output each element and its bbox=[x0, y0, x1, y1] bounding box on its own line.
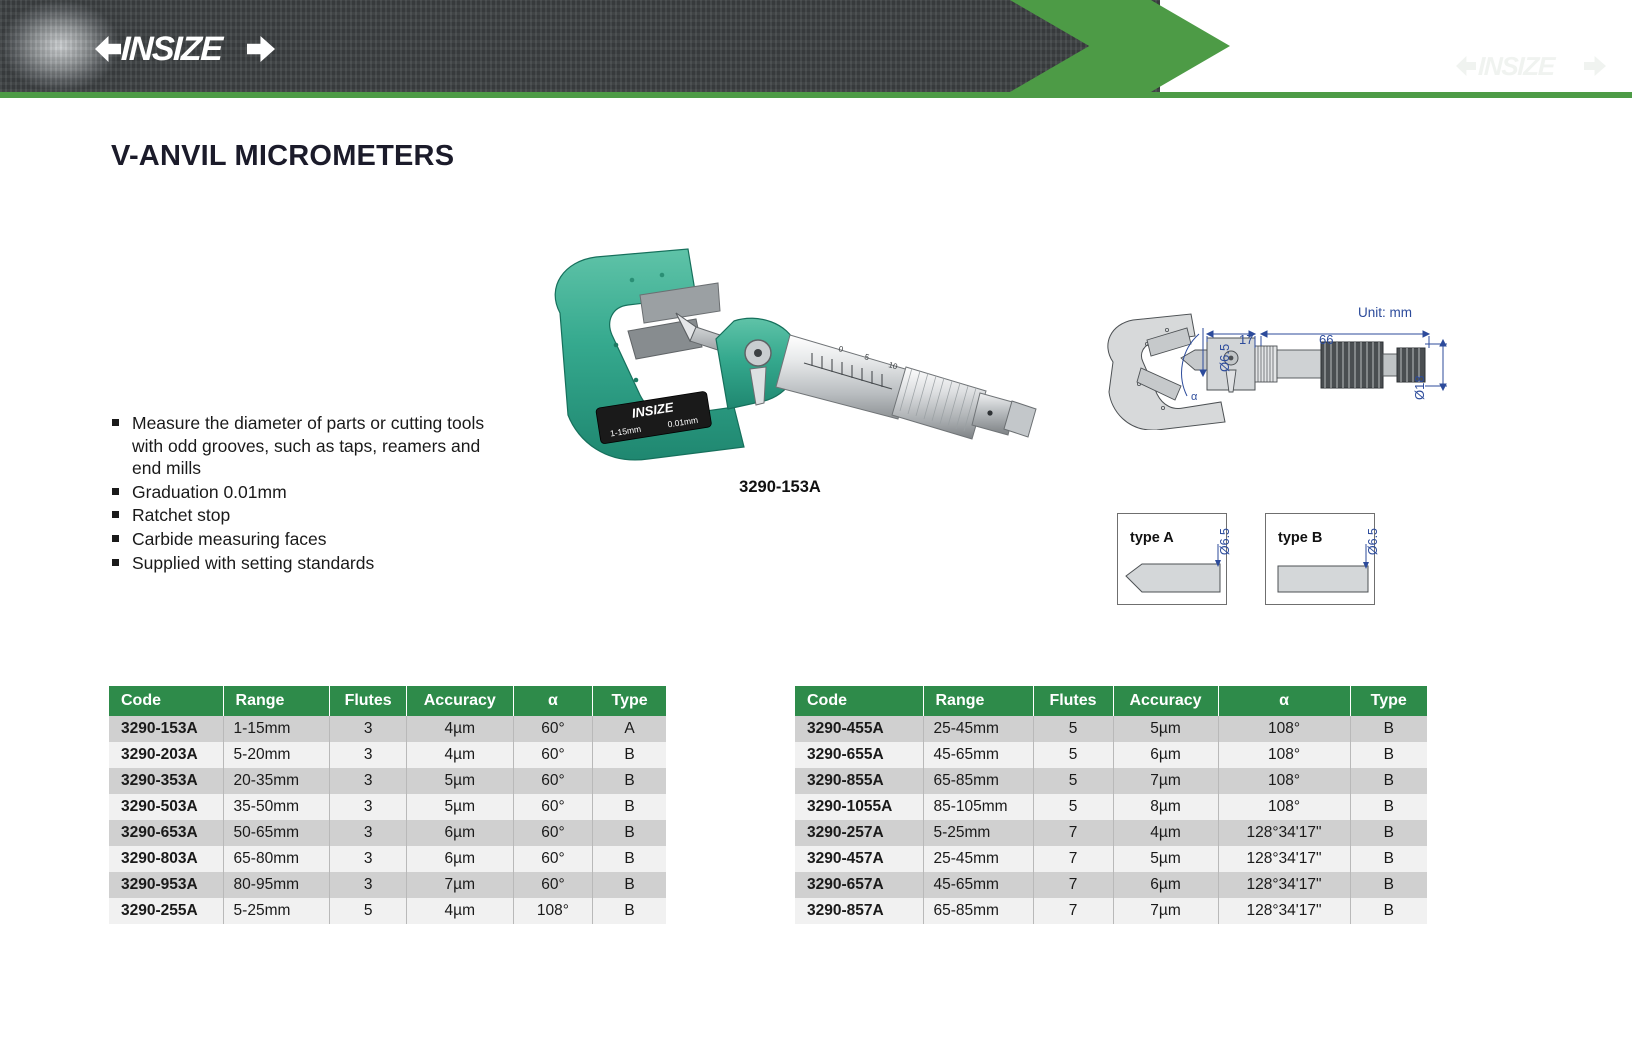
column-header-range: Range bbox=[223, 686, 330, 716]
cell-accuracy: 4µm bbox=[406, 716, 513, 742]
cell-accuracy: 4µm bbox=[406, 898, 513, 924]
dimension-diameter-thimble: Ø18 bbox=[1412, 375, 1427, 400]
list-item: Supplied with setting standards bbox=[110, 552, 510, 575]
cell-alpha: 128°34'17" bbox=[1218, 846, 1350, 872]
column-header-code: Code bbox=[109, 686, 223, 716]
feature-text: Measure the diameter of parts or cutting… bbox=[132, 413, 484, 478]
cell-flutes: 3 bbox=[330, 846, 406, 872]
cell-alpha: 60° bbox=[513, 872, 592, 898]
table-row: 3290-153A1-15mm34µm60°A bbox=[109, 716, 666, 742]
cell-range: 45-65mm bbox=[923, 872, 1033, 898]
cell-code: 3290-203A bbox=[109, 742, 223, 768]
cell-alpha: 108° bbox=[1218, 742, 1350, 768]
column-header-alpha: α bbox=[1218, 686, 1350, 716]
cell-type: B bbox=[1350, 820, 1427, 846]
table-row: 3290-455A25-45mm55µm108°B bbox=[795, 716, 1427, 742]
column-header-flutes: Flutes bbox=[330, 686, 406, 716]
cell-code: 3290-803A bbox=[109, 846, 223, 872]
dimension-drawing: α bbox=[1095, 300, 1465, 430]
dimension-17: 17 bbox=[1239, 332, 1253, 347]
table-row: 3290-203A5-20mm34µm60°B bbox=[109, 742, 666, 768]
cell-code: 3290-255A bbox=[109, 898, 223, 924]
cell-flutes: 3 bbox=[330, 716, 406, 742]
cell-flutes: 3 bbox=[330, 794, 406, 820]
cell-code: 3290-257A bbox=[795, 820, 923, 846]
cell-flutes: 3 bbox=[330, 742, 406, 768]
dimension-diameter-anvil: Ø6.5 bbox=[1217, 344, 1232, 372]
cell-accuracy: 5µm bbox=[406, 794, 513, 820]
table-row: 3290-503A35-50mm35µm60°B bbox=[109, 794, 666, 820]
cell-alpha: 60° bbox=[513, 768, 592, 794]
cell-type: B bbox=[593, 898, 666, 924]
page-header: INSIZE INSIZE bbox=[0, 0, 1632, 98]
column-header-type: Type bbox=[593, 686, 666, 716]
cell-alpha: 128°34'17" bbox=[1218, 898, 1350, 924]
table-row: 3290-855A65-85mm57µm108°B bbox=[795, 768, 1427, 794]
table-body-right: 3290-455A25-45mm55µm108°B3290-655A45-65m… bbox=[795, 716, 1427, 924]
cell-range: 85-105mm bbox=[923, 794, 1033, 820]
cell-accuracy: 6µm bbox=[406, 820, 513, 846]
cell-flutes: 3 bbox=[330, 768, 406, 794]
cell-alpha: 108° bbox=[1218, 768, 1350, 794]
cell-accuracy: 6µm bbox=[1113, 872, 1218, 898]
cell-flutes: 7 bbox=[1033, 872, 1113, 898]
square-bullet-icon bbox=[112, 535, 119, 542]
cell-code: 3290-657A bbox=[795, 872, 923, 898]
cell-flutes: 5 bbox=[1033, 768, 1113, 794]
cell-range: 5-25mm bbox=[923, 820, 1033, 846]
table-row: 3290-655A45-65mm56µm108°B bbox=[795, 742, 1427, 768]
cell-flutes: 5 bbox=[330, 898, 406, 924]
cell-flutes: 5 bbox=[1033, 716, 1113, 742]
cell-flutes: 3 bbox=[330, 820, 406, 846]
cell-type: B bbox=[1350, 742, 1427, 768]
logo-left-arrow-icon bbox=[95, 36, 121, 62]
watermark-text: INSIZE bbox=[1477, 51, 1554, 82]
cell-alpha: 128°34'17" bbox=[1218, 872, 1350, 898]
cell-accuracy: 6µm bbox=[406, 846, 513, 872]
technical-drawing: α bbox=[1095, 300, 1465, 430]
cell-range: 5-25mm bbox=[223, 898, 330, 924]
cell-alpha: 60° bbox=[513, 742, 592, 768]
cell-type: B bbox=[593, 872, 666, 898]
type-b-box: type B Ø6.5 bbox=[1265, 513, 1375, 605]
cell-type: B bbox=[1350, 768, 1427, 794]
square-bullet-icon bbox=[112, 488, 119, 495]
cell-alpha: 60° bbox=[513, 716, 592, 742]
logo-text: INSIZE bbox=[120, 30, 222, 69]
cell-accuracy: 4µm bbox=[1113, 820, 1218, 846]
table-row: 3290-457A25-45mm75µm128°34'17"B bbox=[795, 846, 1427, 872]
cell-range: 20-35mm bbox=[223, 768, 330, 794]
cell-accuracy: 7µm bbox=[1113, 768, 1218, 794]
cell-code: 3290-857A bbox=[795, 898, 923, 924]
watermark-right-arrow-icon bbox=[1584, 56, 1606, 76]
cell-code: 3290-353A bbox=[109, 768, 223, 794]
cell-range: 1-15mm bbox=[223, 716, 330, 742]
cell-alpha: 108° bbox=[1218, 794, 1350, 820]
table-row: 3290-857A65-85mm77µm128°34'17"B bbox=[795, 898, 1427, 924]
cell-alpha: 108° bbox=[513, 898, 592, 924]
cell-alpha: 60° bbox=[513, 820, 592, 846]
list-item: Ratchet stop bbox=[110, 504, 510, 527]
cell-alpha: 108° bbox=[1218, 716, 1350, 742]
cell-accuracy: 6µm bbox=[1113, 742, 1218, 768]
page-title: V-ANVIL MICROMETERS bbox=[111, 140, 454, 173]
spec-table-right: Code Range Flutes Accuracy α Type 3290-4… bbox=[795, 686, 1427, 924]
product-caption: 3290-153A bbox=[520, 478, 1040, 497]
insize-watermark-logo: INSIZE bbox=[1456, 50, 1616, 84]
square-bullet-icon bbox=[112, 419, 119, 426]
list-item: Graduation 0.01mm bbox=[110, 481, 510, 504]
cell-range: 25-45mm bbox=[923, 716, 1033, 742]
cell-range: 45-65mm bbox=[923, 742, 1033, 768]
header-green-rule bbox=[0, 92, 1632, 98]
cell-flutes: 5 bbox=[1033, 742, 1113, 768]
cell-type: B bbox=[593, 794, 666, 820]
cell-alpha: 128°34'17" bbox=[1218, 820, 1350, 846]
cell-flutes: 3 bbox=[330, 872, 406, 898]
cell-range: 80-95mm bbox=[223, 872, 330, 898]
cell-code: 3290-457A bbox=[795, 846, 923, 872]
cell-flutes: 7 bbox=[1033, 898, 1113, 924]
cell-code: 3290-455A bbox=[795, 716, 923, 742]
cell-type: B bbox=[593, 768, 666, 794]
dimension-66: 66 bbox=[1319, 332, 1333, 347]
column-header-range: Range bbox=[923, 686, 1033, 716]
type-a-box: type A Ø6.5 bbox=[1117, 513, 1227, 605]
cell-type: B bbox=[1350, 846, 1427, 872]
insize-logo: INSIZE bbox=[95, 28, 275, 72]
column-header-accuracy: Accuracy bbox=[1113, 686, 1218, 716]
table-row: 3290-1055A85-105mm58µm108°B bbox=[795, 794, 1427, 820]
type-a-tip-drawing bbox=[1118, 514, 1228, 606]
cell-type: B bbox=[593, 846, 666, 872]
cell-code: 3290-855A bbox=[795, 768, 923, 794]
square-bullet-icon bbox=[112, 511, 119, 518]
cell-flutes: 5 bbox=[1033, 794, 1113, 820]
cell-range: 65-85mm bbox=[923, 898, 1033, 924]
cell-flutes: 7 bbox=[1033, 846, 1113, 872]
cell-type: B bbox=[1350, 872, 1427, 898]
cell-accuracy: 8µm bbox=[1113, 794, 1218, 820]
cell-range: 65-85mm bbox=[923, 768, 1033, 794]
cell-accuracy: 5µm bbox=[1113, 716, 1218, 742]
cell-accuracy: 5µm bbox=[406, 768, 513, 794]
feature-list: Measure the diameter of parts or cutting… bbox=[110, 412, 510, 575]
micrometer-illustration: 0 5 10 bbox=[520, 235, 1040, 475]
cell-code: 3290-653A bbox=[109, 820, 223, 846]
table-row: 3290-255A5-25mm54µm108°B bbox=[109, 898, 666, 924]
datasheet-page: INSIZE INSIZE V-ANVIL MICROMETERS Measur… bbox=[0, 0, 1632, 1043]
cell-range: 50-65mm bbox=[223, 820, 330, 846]
column-header-flutes: Flutes bbox=[1033, 686, 1113, 716]
product-photo: 0 5 10 bbox=[520, 235, 1040, 475]
column-header-accuracy: Accuracy bbox=[406, 686, 513, 716]
list-item: Carbide measuring faces bbox=[110, 528, 510, 551]
feature-text: Graduation 0.01mm bbox=[132, 482, 287, 502]
column-header-code: Code bbox=[795, 686, 923, 716]
cell-type: A bbox=[593, 716, 666, 742]
cell-type: B bbox=[1350, 794, 1427, 820]
cell-range: 25-45mm bbox=[923, 846, 1033, 872]
cell-type: B bbox=[593, 742, 666, 768]
table-row: 3290-803A65-80mm36µm60°B bbox=[109, 846, 666, 872]
logo-right-arrow-icon bbox=[247, 36, 275, 62]
cell-code: 3290-953A bbox=[109, 872, 223, 898]
cell-code: 3290-153A bbox=[109, 716, 223, 742]
watermark-left-arrow-icon bbox=[1456, 56, 1476, 76]
table-body-left: 3290-153A1-15mm34µm60°A3290-203A5-20mm34… bbox=[109, 716, 666, 924]
table-row: 3290-257A5-25mm74µm128°34'17"B bbox=[795, 820, 1427, 846]
feature-text: Carbide measuring faces bbox=[132, 529, 327, 549]
cell-accuracy: 7µm bbox=[1113, 898, 1218, 924]
cell-accuracy: 5µm bbox=[1113, 846, 1218, 872]
cell-alpha: 60° bbox=[513, 846, 592, 872]
cell-range: 5-20mm bbox=[223, 742, 330, 768]
cell-flutes: 7 bbox=[1033, 820, 1113, 846]
cell-accuracy: 7µm bbox=[406, 872, 513, 898]
table-row: 3290-657A45-65mm76µm128°34'17"B bbox=[795, 872, 1427, 898]
cell-code: 3290-655A bbox=[795, 742, 923, 768]
cell-range: 35-50mm bbox=[223, 794, 330, 820]
table-row: 3290-953A80-95mm37µm60°B bbox=[109, 872, 666, 898]
cell-code: 3290-503A bbox=[109, 794, 223, 820]
table-header-row: Code Range Flutes Accuracy α Type bbox=[109, 686, 666, 716]
column-header-type: Type bbox=[1350, 686, 1427, 716]
cell-type: B bbox=[1350, 898, 1427, 924]
table-row: 3290-653A50-65mm36µm60°B bbox=[109, 820, 666, 846]
column-header-alpha: α bbox=[513, 686, 592, 716]
square-bullet-icon bbox=[112, 559, 119, 566]
cell-accuracy: 4µm bbox=[406, 742, 513, 768]
spec-table-left: Code Range Flutes Accuracy α Type 3290-1… bbox=[109, 686, 666, 924]
table-header-row: Code Range Flutes Accuracy α Type bbox=[795, 686, 1427, 716]
cell-code: 3290-1055A bbox=[795, 794, 923, 820]
svg-text:α: α bbox=[1191, 391, 1198, 403]
feature-text: Ratchet stop bbox=[132, 505, 230, 525]
feature-text: Supplied with setting standards bbox=[132, 553, 374, 573]
list-item: Measure the diameter of parts or cutting… bbox=[110, 412, 510, 480]
cell-type: B bbox=[1350, 716, 1427, 742]
table-row: 3290-353A20-35mm35µm60°B bbox=[109, 768, 666, 794]
cell-alpha: 60° bbox=[513, 794, 592, 820]
cell-type: B bbox=[593, 820, 666, 846]
cell-range: 65-80mm bbox=[223, 846, 330, 872]
type-b-tip-drawing bbox=[1266, 514, 1376, 606]
